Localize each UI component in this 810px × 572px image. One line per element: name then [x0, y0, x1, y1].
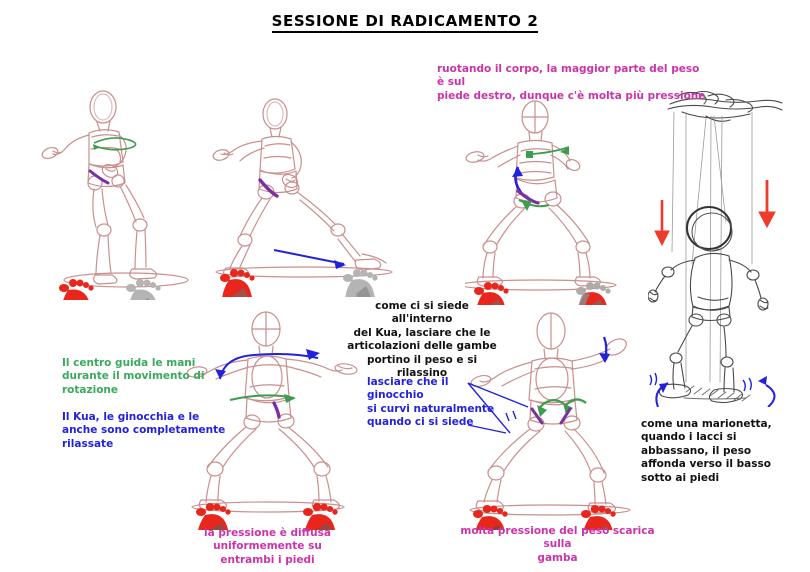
arrow-green-knee-curve	[537, 399, 586, 417]
figure-side-view-low-stance	[212, 92, 402, 297]
figure-horse-stance-rotating-body	[465, 95, 655, 305]
arrow-red-string-down-left	[655, 200, 669, 245]
caption-kua-rilassate: Il Kua, le ginocchia e le anche sono com…	[62, 411, 237, 451]
footprint-left-red	[220, 269, 256, 297]
page-title-text: SESSIONE DI RADICAMENTO 2	[272, 12, 539, 33]
caption-bottom-left: la pressione è diffusa uniformemente su …	[160, 527, 375, 567]
caption-kua-center: come ci si siede all'interno del Kua, la…	[347, 300, 497, 381]
page-title: SESSIONE DI RADICAMENTO 2	[0, 12, 810, 31]
caption-ginocchio: lasciare che il ginocchio si curvi natur…	[367, 376, 502, 430]
footprint-right-gray	[343, 269, 379, 297]
footprint-right-red	[303, 503, 340, 530]
arrow-purple-kua	[260, 180, 277, 196]
worksheet-page: SESSIONE DI RADICAMENTO 2	[0, 0, 810, 572]
footprint-right-gray	[126, 279, 162, 300]
arrow-red-string-down-right	[759, 180, 775, 227]
caption-bottom-middle: molta pressione del peso scarica sulla g…	[450, 525, 665, 565]
figure-side-view-seated-rotation	[40, 85, 220, 300]
caption-marionetta: come una marionetta, quando i lacci si a…	[641, 418, 791, 485]
arrow-blue-sink-right	[743, 376, 775, 407]
arrow-blue-weight-shift	[274, 250, 346, 269]
caption-top-right: ruotando il corpo, la maggior parte del …	[437, 63, 707, 103]
footprint-left-red	[59, 279, 95, 300]
footprint-left-red	[196, 503, 233, 530]
arrow-green-center-turn	[230, 394, 296, 403]
arrow-purple-kua	[274, 403, 279, 417]
figure-marionette-with-strings	[648, 82, 810, 407]
caption-centro-guida: Il centro guida le mani durante il movim…	[62, 357, 232, 397]
arrow-blue-sink-left	[650, 373, 668, 407]
